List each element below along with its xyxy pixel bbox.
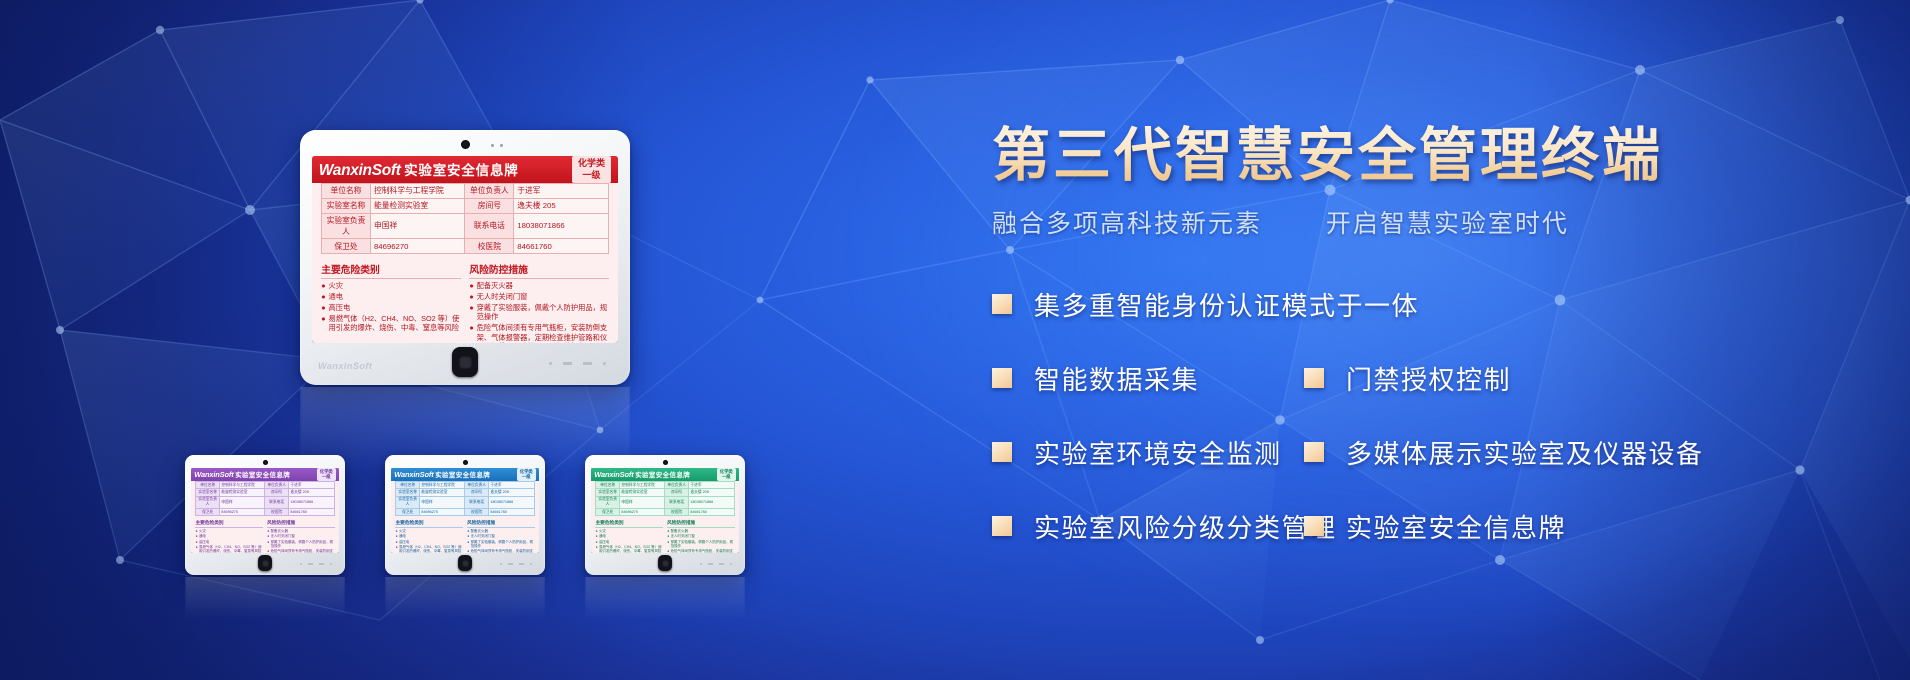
board-brand: WanxinSoft 实验室安全信息牌: [594, 469, 690, 479]
lab-info-table: 单位名称 控制科学与工程学院 单位负责人 于进军 实验室名称 能量检测实验室 房…: [395, 481, 534, 516]
hazard-heading: 主要危险类别: [595, 520, 662, 528]
square-bullet-icon: [992, 294, 1012, 314]
square-bullet-icon: [1304, 442, 1324, 462]
table-row: 单位名称 控制科学与工程学院 单位负责人 于进军: [196, 481, 334, 488]
table-row: 实验室负责人 申国祥 联系电话 18038071866: [396, 496, 534, 508]
tablet-screen[interactable]: WanxinSoft 实验室安全信息牌 化学类一级 单位名称 控制科学与工程学院…: [391, 468, 539, 553]
lab-info-table: 单位名称 控制科学与工程学院 单位负责人 于进军 实验室名称 能量检测实验室 房…: [321, 183, 609, 254]
marketing-copy: 第三代智慧安全管理终端 融合多项高科技新元素 开启智慧实验室时代 集多重智能身份…: [992, 124, 1852, 545]
brand-logo: WanxinSoft: [194, 470, 233, 479]
table-row: 单位名称 控制科学与工程学院 单位负责人 于进军: [322, 184, 609, 199]
board-brand: WanxinSoft 实验室安全信息牌: [194, 469, 290, 479]
table-row: 实验室名称 能量检测实验室 房间号 逸夫楼 205: [596, 489, 734, 496]
board-middle: 主要危险类别 ●火灾●通电●高压电●易燃气体（H2、CH4、NO、SO2 等）使…: [595, 520, 734, 553]
feature-label: 集多重智能身份认证模式于一体: [1034, 286, 1419, 323]
table-value: 18038071866: [688, 496, 734, 508]
hazard-section: 主要危险类别 ●火灾●通电●高压电●易燃气体（H2、CH4、NO、SO2 等）使…: [395, 520, 462, 553]
hazard-item: ●火灾: [321, 281, 461, 290]
control-item: ●危险气体间须有专用气瓶柜，安装防倒支架、气体报警器，定期检查维护管路和仪器，佩…: [469, 323, 609, 343]
control-item: ●穿戴了实验服装，佩戴个人防护用品，规范操作: [267, 540, 334, 549]
hazard-heading: 主要危险类别: [321, 262, 461, 279]
feature-label: 多媒体展示实验室及仪器设备: [1346, 434, 1704, 471]
table-value: 逸夫楼 205: [288, 489, 334, 496]
front-camera: [463, 460, 468, 465]
feature-label: 智能数据采集: [1034, 360, 1199, 397]
subtitle-left: 融合多项高科技新元素: [992, 210, 1262, 238]
table-key: 保卫处: [596, 508, 619, 515]
table-row: 实验室名称 能量检测实验室 房间号 逸夫楼 205: [396, 489, 534, 496]
feature-label: 实验室环境安全监测: [1034, 434, 1282, 471]
hazard-heading: 主要危险类别: [195, 520, 262, 528]
table-key: 联系电话: [665, 496, 688, 508]
table-value: 84661760: [514, 239, 609, 254]
hazard-item: ●高压电: [395, 540, 462, 544]
table-key: 单位负责人: [665, 481, 688, 488]
hazard-section: 主要危险类别 ●火灾●通电●高压电●易燃气体（H2、CH4、NO、SO2 等）使…: [595, 520, 662, 553]
control-item: ●危险气体间须有专用气瓶柜，安装防倒支架、气体报警器，定期检查维护管路和仪器，佩…: [467, 549, 534, 553]
thumbnail-tablet-blue[interactable]: WanxinSoft 实验室安全信息牌 化学类一级 单位名称 控制科学与工程学院…: [385, 455, 545, 575]
table-key: 房间号: [465, 198, 514, 213]
table-row: 实验室负责人 申国祥 联系电话 18038071866: [196, 496, 334, 508]
table-key: 实验室负责人: [396, 496, 419, 508]
table-key: 联系电话: [265, 496, 288, 508]
front-camera: [663, 460, 668, 465]
page-title: 第三代智慧安全管理终端: [992, 124, 1852, 188]
home-fingerprint-button[interactable]: [458, 555, 472, 571]
table-key: 校医院: [465, 508, 488, 515]
feature-label: 实验室风险分级分类管理: [1034, 508, 1337, 545]
table-value: 逸夫楼 205: [688, 489, 734, 496]
hazard-item: ●高压电: [195, 540, 262, 544]
front-camera: [263, 460, 268, 465]
light-sensor: [491, 144, 494, 147]
home-fingerprint-button[interactable]: [258, 555, 272, 571]
table-key: 单位名称: [322, 184, 371, 199]
feature-label: 实验室安全信息牌: [1346, 508, 1566, 545]
board-title: 实验室安全信息牌: [435, 469, 490, 479]
board-header: WanxinSoft 实验室安全信息牌 化学类一级: [591, 468, 739, 481]
control-item: ●配备灭火器: [469, 281, 609, 290]
table-key: 房间号: [665, 489, 688, 496]
feature-row: 集多重智能身份认证模式于一体: [992, 286, 1852, 323]
table-row: 保卫处 84696270 校医院 84661760: [396, 508, 534, 515]
table-value: 18038071866: [488, 496, 534, 508]
hazard-item: ●高压电: [321, 303, 461, 312]
table-key: 单位名称: [596, 481, 619, 488]
table-value: 于进军: [688, 481, 734, 488]
table-key: 单位负责人: [265, 481, 288, 488]
table-value: 84661760: [688, 508, 734, 515]
board-title: 实验室安全信息牌: [635, 469, 690, 479]
table-key: 保卫处: [322, 239, 371, 254]
hazard-class-badge: 化学类一级: [317, 468, 336, 481]
table-key: 实验室负责人: [196, 496, 219, 508]
lab-info-table: 单位名称 控制科学与工程学院 单位负责人 于进军 实验室名称 能量检测实验室 房…: [195, 481, 334, 516]
table-row: 单位名称 控制科学与工程学院 单位负责人 于进军: [596, 481, 734, 488]
table-value: 控制科学与工程学院: [370, 184, 465, 199]
square-bullet-icon: [992, 516, 1012, 536]
table-value: 能量检测实验室: [219, 489, 265, 496]
board-header: WanxinSoft 实验室安全信息牌 化学类一级: [191, 468, 339, 481]
feature-row: 智能数据采集 门禁授权控制: [992, 360, 1852, 397]
board-brand: WanxinSoft 实验室安全信息牌: [319, 159, 519, 180]
table-value: 84696270: [370, 239, 465, 254]
hazard-item: ●易燃气体（H2、CH4、NO、SO2 等）使用引发的爆炸、烧伤、中毒、窒息等风…: [321, 314, 461, 332]
feature-item[interactable]: 集多重智能身份认证模式于一体: [992, 286, 1419, 323]
hazard-item: ●高压电: [595, 540, 662, 544]
table-value: 控制科学与工程学院: [619, 481, 665, 488]
table-value: 84696270: [419, 508, 465, 515]
thumbnail-tablet-purple[interactable]: WanxinSoft 实验室安全信息牌 化学类一级 单位名称 控制科学与工程学院…: [185, 455, 345, 575]
feature-row: 实验室风险分级分类管理 实验室安全信息牌: [992, 508, 1852, 545]
square-bullet-icon: [992, 368, 1012, 388]
tablet-screen[interactable]: WanxinSoft 实验室安全信息牌 化学类一级 单位名称 控制科学与工程学院…: [312, 156, 618, 343]
table-value: 18038071866: [288, 496, 334, 508]
table-value: 逸夫楼 205: [488, 489, 534, 496]
table-value: 于进军: [514, 184, 609, 199]
control-item: ●危险气体间须有专用气瓶柜，安装防倒支架、气体报警器，定期检查维护管路和仪器，佩…: [267, 549, 334, 553]
table-value: 能量检测实验室: [419, 489, 465, 496]
table-value: 84696270: [219, 508, 265, 515]
table-value: 申国祥: [219, 496, 265, 508]
table-value: 申国祥: [419, 496, 465, 508]
table-key: 联系电话: [465, 496, 488, 508]
table-value: 控制科学与工程学院: [219, 481, 265, 488]
control-heading: 风险防控措施: [667, 520, 734, 528]
table-value: 能量检测实验室: [370, 198, 465, 213]
table-key: 保卫处: [196, 508, 219, 515]
home-fingerprint-button[interactable]: [658, 555, 672, 571]
board-middle: 主要危险类别 ●火灾●通电●高压电●易燃气体（H2、CH4、NO、SO2 等）使…: [395, 520, 534, 553]
board-middle: 主要危险类别 ●火灾●通电●高压电●易燃气体（H2、CH4、NO、SO2 等）使…: [195, 520, 334, 553]
table-row: 实验室负责人 申国祥 联系电话 18038071866: [322, 213, 609, 239]
feature-item[interactable]: 门禁授权控制: [1304, 360, 1511, 397]
board-title: 实验室安全信息牌: [235, 469, 290, 479]
control-item: ●配备灭火器: [467, 529, 534, 533]
feature-row: 实验室环境安全监测 多媒体展示实验室及仪器设备: [992, 434, 1852, 471]
table-key: 实验室名称: [196, 489, 219, 496]
table-value: 申国祥: [619, 496, 665, 508]
control-item: ●无人时关闭门窗: [267, 534, 334, 538]
table-key: 实验室名称: [596, 489, 619, 496]
table-key: 校医院: [665, 508, 688, 515]
table-row: 保卫处 84696270 校医院 84661760: [596, 508, 734, 515]
proximity-sensor: [500, 144, 503, 147]
control-item: ●配备灭火器: [267, 529, 334, 533]
hazard-item: ●通电: [321, 292, 461, 301]
control-item: ●无人时关闭门窗: [467, 534, 534, 538]
home-fingerprint-button[interactable]: [452, 347, 478, 377]
table-row: 实验室名称 能量检测实验室 房间号 逸夫楼 205: [196, 489, 334, 496]
board-title: 实验室安全信息牌: [404, 159, 518, 179]
hazard-class-badge: 化学类一级: [572, 156, 612, 183]
control-item: ●穿戴了实验服装，佩戴个人防护用品，规范操作: [467, 540, 534, 549]
device-bottom-logo: WanxinSoft: [318, 361, 372, 371]
hazard-item: ●火灾: [395, 529, 462, 533]
feature-label: 门禁授权控制: [1346, 360, 1511, 397]
hazard-item: ●通电: [595, 534, 662, 538]
square-bullet-icon: [1304, 368, 1324, 388]
status-indicator-dots: [500, 563, 532, 565]
control-item: ●配备灭火器: [667, 529, 734, 533]
main-tablet-device: WanxinSoft 实验室安全信息牌 化学类一级 单位名称 控制科学与工程学院…: [300, 130, 630, 385]
square-bullet-icon: [1304, 516, 1324, 536]
table-key: 保卫处: [396, 508, 419, 515]
hazard-class-badge: 化学类一级: [517, 468, 536, 481]
status-indicator-dots: [300, 563, 332, 565]
control-heading: 风险防控措施: [267, 520, 334, 528]
control-section: 风险防控措施 ●配备灭火器●无人时关闭门窗●穿戴了实验服装，佩戴个人防护用品，规…: [267, 520, 334, 553]
hazard-item: ●通电: [195, 534, 262, 538]
table-value: 逸夫楼 205: [514, 198, 609, 213]
table-row: 实验室名称 能量检测实验室 房间号 逸夫楼 205: [322, 198, 609, 213]
hazard-item: ●易燃气体（H2、CH4、NO、SO2 等）使用引发的爆炸、烧伤、中毒、窒息等风…: [595, 545, 662, 553]
table-value: 84661760: [288, 508, 334, 515]
board-middle: 主要危险类别 ●火灾●通电●高压电●易燃气体（H2、CH4、NO、SO2 等）使…: [321, 262, 609, 343]
table-key: 单位名称: [196, 481, 219, 488]
table-row: 实验室负责人 申国祥 联系电话 18038071866: [596, 496, 734, 508]
control-section: 风险防控措施 ●配备灭火器●无人时关闭门窗●穿戴了实验服装，佩戴个人防护用品，规…: [667, 520, 734, 553]
table-key: 校医院: [465, 239, 514, 254]
control-section: 风险防控措施 ●配备灭火器●无人时关闭门窗●穿戴了实验服装，佩戴个人防护用品，规…: [467, 520, 534, 553]
table-key: 房间号: [465, 489, 488, 496]
hazard-item: ●通电: [395, 534, 462, 538]
banner-stage: WanxinSoft 实验室安全信息牌 化学类一级 单位名称 控制科学与工程学院…: [0, 0, 1910, 680]
hazard-section: 主要危险类别 ●火灾●通电●高压电●易燃气体（H2、CH4、NO、SO2 等）使…: [321, 262, 461, 343]
table-value: 84661760: [488, 508, 534, 515]
feature-item[interactable]: 实验室风险分级分类管理: [992, 508, 1304, 545]
table-value: 申国祥: [370, 213, 465, 239]
board-header: WanxinSoft 实验室安全信息牌 化学类一级: [312, 156, 618, 183]
table-key: 实验室名称: [396, 489, 419, 496]
feature-item[interactable]: 实验室环境安全监测: [992, 434, 1304, 471]
table-key: 单位负责人: [465, 184, 514, 199]
table-key: 房间号: [265, 489, 288, 496]
subtitle-right: 开启智慧实验室时代: [1326, 210, 1569, 238]
hazard-section: 主要危险类别 ●火灾●通电●高压电●易燃气体（H2、CH4、NO、SO2 等）使…: [195, 520, 262, 553]
tablet-screen[interactable]: WanxinSoft 实验室安全信息牌 化学类一级 单位名称 控制科学与工程学院…: [191, 468, 339, 553]
control-item: ●穿戴了实验服装，佩戴个人防护用品，规范操作: [667, 540, 734, 549]
control-item: ●穿戴了实验服装，佩戴个人防护用品，规范操作: [469, 303, 609, 321]
brand-logo: WanxinSoft: [594, 470, 633, 479]
brand-logo: WanxinSoft: [319, 162, 401, 180]
control-item: ●无人时关闭门窗: [667, 534, 734, 538]
table-key: 单位负责人: [465, 481, 488, 488]
table-key: 实验室负责人: [596, 496, 619, 508]
feature-item[interactable]: 实验室安全信息牌: [1304, 508, 1566, 545]
board-brand: WanxinSoft 实验室安全信息牌: [394, 469, 490, 479]
control-item: ●无人时关闭门窗: [469, 292, 609, 301]
table-key: 联系电话: [465, 213, 514, 239]
board-header: WanxinSoft 实验室安全信息牌 化学类一级: [391, 468, 539, 481]
control-item: ●危险气体间须有专用气瓶柜，安装防倒支架、气体报警器，定期检查维护管路和仪器，佩…: [667, 549, 734, 553]
feature-item[interactable]: 智能数据采集: [992, 360, 1304, 397]
hazard-item: ●易燃气体（H2、CH4、NO、SO2 等）使用引发的爆炸、烧伤、中毒、窒息等风…: [195, 545, 262, 553]
lab-info-table: 单位名称 控制科学与工程学院 单位负责人 于进军 实验室名称 能量检测实验室 房…: [595, 481, 734, 516]
table-row: 保卫处 84696270 校医院 84661760: [322, 239, 609, 254]
table-value: 18038071866: [514, 213, 609, 239]
front-camera: [461, 140, 470, 149]
hazard-heading: 主要危险类别: [395, 520, 462, 528]
control-section: 风险防控措施 ●配备灭火器●无人时关闭门窗●穿戴了实验服装，佩戴个人防护用品，规…: [469, 262, 609, 343]
table-key: 实验室名称: [322, 198, 371, 213]
table-row: 单位名称 控制科学与工程学院 单位负责人 于进军: [396, 481, 534, 488]
feature-item[interactable]: 多媒体展示实验室及仪器设备: [1304, 434, 1704, 471]
status-indicator-dots: [700, 563, 732, 565]
table-key: 校医院: [265, 508, 288, 515]
square-bullet-icon: [992, 442, 1012, 462]
feature-list: 集多重智能身份认证模式于一体 智能数据采集 门禁授权控制 实验室环境安全监测: [992, 286, 1852, 545]
table-key: 单位名称: [396, 481, 419, 488]
table-row: 保卫处 84696270 校医院 84661760: [196, 508, 334, 515]
table-value: 于进军: [288, 481, 334, 488]
table-value: 于进军: [488, 481, 534, 488]
table-value: 84696270: [619, 508, 665, 515]
brand-logo: WanxinSoft: [394, 470, 433, 479]
control-heading: 风险防控措施: [467, 520, 534, 528]
hazard-item: ●火灾: [195, 529, 262, 533]
table-key: 实验室负责人: [322, 213, 371, 239]
hazard-item: ●火灾: [595, 529, 662, 533]
table-value: 能量检测实验室: [619, 489, 665, 496]
status-indicator-dots: [549, 362, 606, 365]
page-subtitle: 融合多项高科技新元素 开启智慧实验室时代: [992, 204, 1852, 240]
thumbnail-tablet-green[interactable]: WanxinSoft 实验室安全信息牌 化学类一级 单位名称 控制科学与工程学院…: [585, 455, 745, 575]
hazard-item: ●易燃气体（H2、CH4、NO、SO2 等）使用引发的爆炸、烧伤、中毒、窒息等风…: [395, 545, 462, 553]
table-value: 控制科学与工程学院: [419, 481, 465, 488]
tablet-screen[interactable]: WanxinSoft 实验室安全信息牌 化学类一级 单位名称 控制科学与工程学院…: [591, 468, 739, 553]
control-heading: 风险防控措施: [469, 262, 609, 279]
hazard-class-badge: 化学类一级: [717, 468, 736, 481]
